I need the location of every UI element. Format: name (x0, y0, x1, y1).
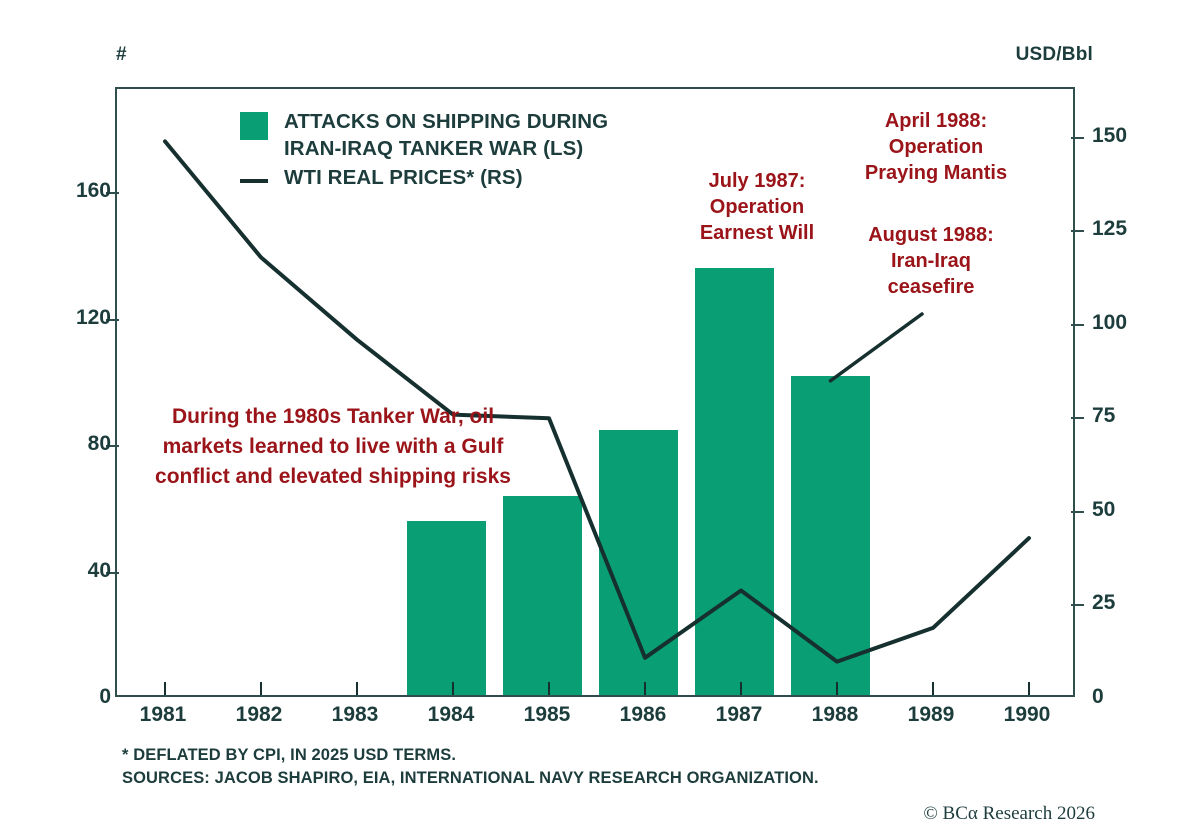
right-axis-label-150: 150 (1092, 124, 1127, 148)
right-axis-unit-label: USD/Bbl (1016, 44, 1093, 66)
left-axis-unit-label: # (116, 44, 127, 66)
left-axis-label-0: 0 (99, 685, 111, 709)
right-axis-label-100: 100 (1092, 311, 1127, 335)
left-axis-label-80: 80 (88, 432, 111, 456)
annotation-earnest-will: July 1987: Operation Earnest Will (662, 168, 852, 246)
legend-item-line: WTI REAL PRICES* (RS) (240, 164, 608, 191)
left-axis-label-40: 40 (88, 559, 111, 583)
x-axis-label-1989: 1989 (908, 703, 955, 727)
annotation-tanker-war: During the 1980s Tanker War, oil markets… (133, 402, 533, 492)
annotation-praying-mantis: April 1988: Operation Praying Mantis (840, 108, 1032, 186)
x-axis-label-1988: 1988 (812, 703, 859, 727)
left-axis-label-160: 160 (76, 179, 111, 203)
legend-swatch-icon (240, 112, 268, 140)
left-axis-label-120: 120 (76, 306, 111, 330)
x-axis-label-1987: 1987 (716, 703, 763, 727)
x-axis-label-1982: 1982 (236, 703, 283, 727)
annotation-ceasefire: August 1988: Iran-Iraq ceasefire (842, 222, 1020, 300)
legend-line-icon (240, 179, 268, 183)
copyright-text: © BCα Research 2026 (923, 803, 1095, 825)
right-axis-label-75: 75 (1092, 404, 1115, 428)
legend-label-line: WTI REAL PRICES* (RS) (284, 164, 523, 191)
chart-canvas: # USD/Bbl ATTACKS ON SHIPPING DURING IRA… (0, 0, 1200, 830)
x-axis-label-1985: 1985 (524, 703, 571, 727)
x-axis-label-1986: 1986 (620, 703, 667, 727)
chart-legend: ATTACKS ON SHIPPING DURING IRAN-IRAQ TAN… (240, 108, 608, 193)
right-axis-label-50: 50 (1092, 498, 1115, 522)
right-axis-label-0: 0 (1092, 685, 1104, 709)
x-axis-label-1990: 1990 (1004, 703, 1051, 727)
right-axis-label-25: 25 (1092, 591, 1115, 615)
x-axis-label-1983: 1983 (332, 703, 379, 727)
legend-item-bars: ATTACKS ON SHIPPING DURING IRAN-IRAQ TAN… (240, 108, 608, 162)
ceasefire-leader-line (831, 314, 923, 381)
x-axis-label-1981: 1981 (140, 703, 187, 727)
x-axis-label-1984: 1984 (428, 703, 475, 727)
right-axis-label-125: 125 (1092, 217, 1127, 241)
legend-label-bars: ATTACKS ON SHIPPING DURING IRAN-IRAQ TAN… (284, 108, 608, 162)
footnote-text: * DEFLATED BY CPI, IN 2025 USD TERMS. SO… (122, 744, 819, 790)
